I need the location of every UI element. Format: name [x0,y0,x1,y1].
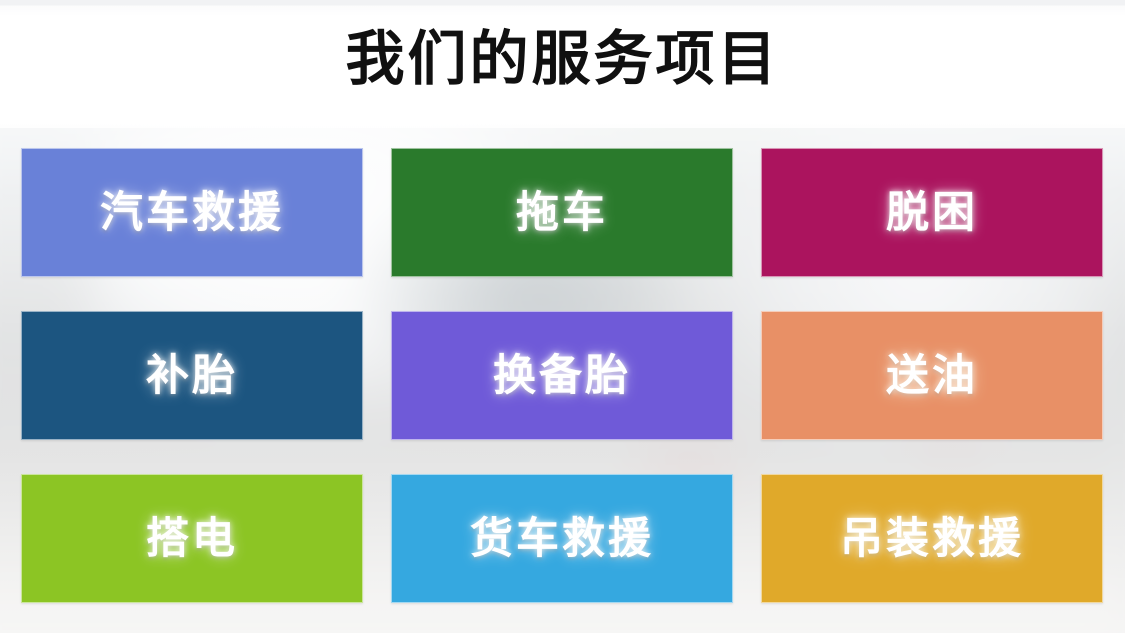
service-tile-label: 拖车 [516,189,608,237]
page-title: 我们的服务项目 [0,20,1125,98]
service-tile-label: 脱困 [886,189,978,237]
service-tile-car-rescue[interactable]: 汽车救援 [21,148,363,277]
service-tile-label: 汽车救援 [100,189,284,237]
service-tile-spare-tire-change[interactable]: 换备胎 [391,311,733,440]
service-tile-tire-repair[interactable]: 补胎 [21,311,363,440]
service-poster: 我们的服务项目 汽车救援 拖车 脱困 补胎 换备胎 送油 搭电 货车救援 吊装救… [0,0,1125,633]
service-tile-jump-start[interactable]: 搭电 [21,474,363,603]
service-tile-tow-truck[interactable]: 拖车 [391,148,733,277]
service-tile-label: 搭电 [146,515,238,563]
service-tile-label: 送油 [886,352,978,400]
service-tile-crane-rescue[interactable]: 吊装救援 [761,474,1103,603]
service-tile-label: 货车救援 [470,515,654,563]
service-tile-truck-rescue[interactable]: 货车救援 [391,474,733,603]
service-tile-fuel-delivery[interactable]: 送油 [761,311,1103,440]
service-tile-label: 吊装救援 [840,515,1024,563]
service-tile-label: 换备胎 [493,352,631,400]
service-tile-grid: 汽车救援 拖车 脱困 补胎 换备胎 送油 搭电 货车救援 吊装救援 [21,148,1104,603]
service-tile-label: 补胎 [146,352,238,400]
service-tile-extrication[interactable]: 脱困 [761,148,1103,277]
